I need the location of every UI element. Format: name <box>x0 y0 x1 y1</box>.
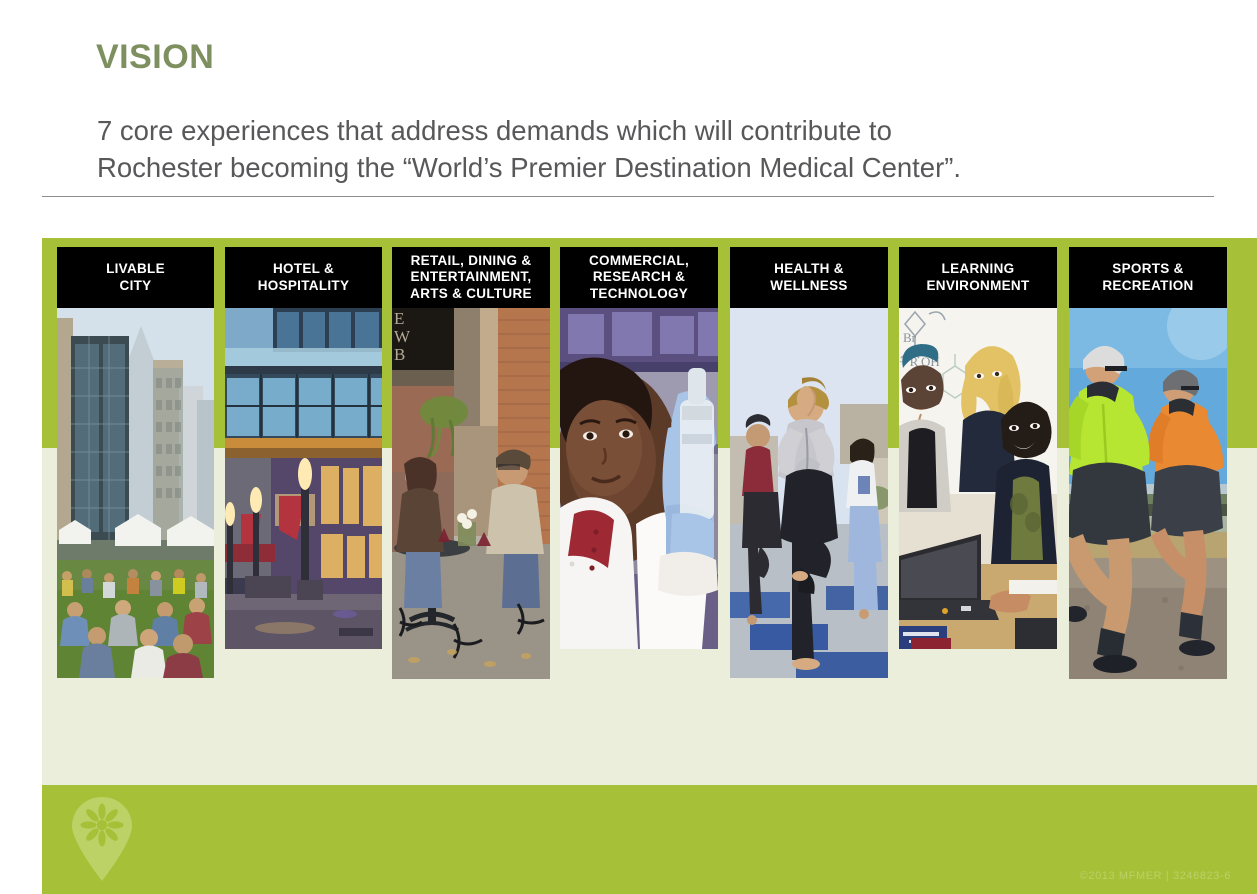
experience-photo-livable-city <box>57 308 214 678</box>
experience-column-health-wellness[interactable]: HEALTH & WELLNESS <box>730 247 888 678</box>
footer-bar: ©2013 MFMER | 3246823-6 <box>42 785 1257 894</box>
experience-header-hotel-hospitality: HOTEL & HOSPITALITY <box>225 247 382 308</box>
experience-header-health-wellness: HEALTH & WELLNESS <box>730 247 888 308</box>
experience-photo-retail-dining-entertainment-arts-culture: EWB <box>392 308 550 679</box>
experience-photo-health-wellness <box>730 308 888 678</box>
experience-photo-sports-recreation <box>1069 308 1227 679</box>
experience-header-sports-recreation: SPORTS & RECREATION <box>1069 247 1227 308</box>
experience-header-learning-environment: LEARNING ENVIRONMENT <box>899 247 1057 308</box>
experience-column-livable-city[interactable]: LIVABLE CITY <box>57 247 214 678</box>
svg-text:E: E <box>394 309 404 328</box>
svg-text:Br: Br <box>903 330 917 345</box>
experience-column-hotel-hospitality[interactable]: HOTEL & HOSPITALITY <box>225 247 382 649</box>
experience-column-sports-recreation[interactable]: SPORTS & RECREATION <box>1069 247 1227 679</box>
experience-photo-hotel-hospitality <box>225 308 382 649</box>
page-subtitle: 7 core experiences that address demands … <box>97 112 1217 186</box>
page-title: VISION <box>96 38 214 77</box>
experiences-panel: LIVABLE CITY <box>42 238 1257 785</box>
experience-photo-learning-environment: Br + R OH <box>899 308 1057 649</box>
experience-column-learning-environment[interactable]: LEARNING ENVIRONMENT Br + R OH <box>899 247 1057 649</box>
experience-header-retail-dining-entertainment-arts-culture: RETAIL, DINING & ENTERTAINMENT, ARTS & C… <box>392 247 550 308</box>
experience-header-commercial-research-technology: COMMERCIAL, RESEARCH & TECHNOLOGY <box>560 247 718 308</box>
map-pin-logo-icon <box>70 795 134 883</box>
svg-text:B: B <box>394 345 405 364</box>
experience-column-commercial-research-technology[interactable]: COMMERCIAL, RESEARCH & TECHNOLOGY <box>560 247 718 649</box>
header-divider <box>42 196 1214 197</box>
experience-header-livable-city: LIVABLE CITY <box>57 247 214 308</box>
experience-photo-commercial-research-technology <box>560 308 718 649</box>
svg-text:W: W <box>394 327 411 346</box>
experience-column-retail-dining-entertainment-arts-culture[interactable]: RETAIL, DINING & ENTERTAINMENT, ARTS & C… <box>392 247 550 679</box>
copyright-text: ©2013 MFMER | 3246823-6 <box>1080 870 1231 882</box>
